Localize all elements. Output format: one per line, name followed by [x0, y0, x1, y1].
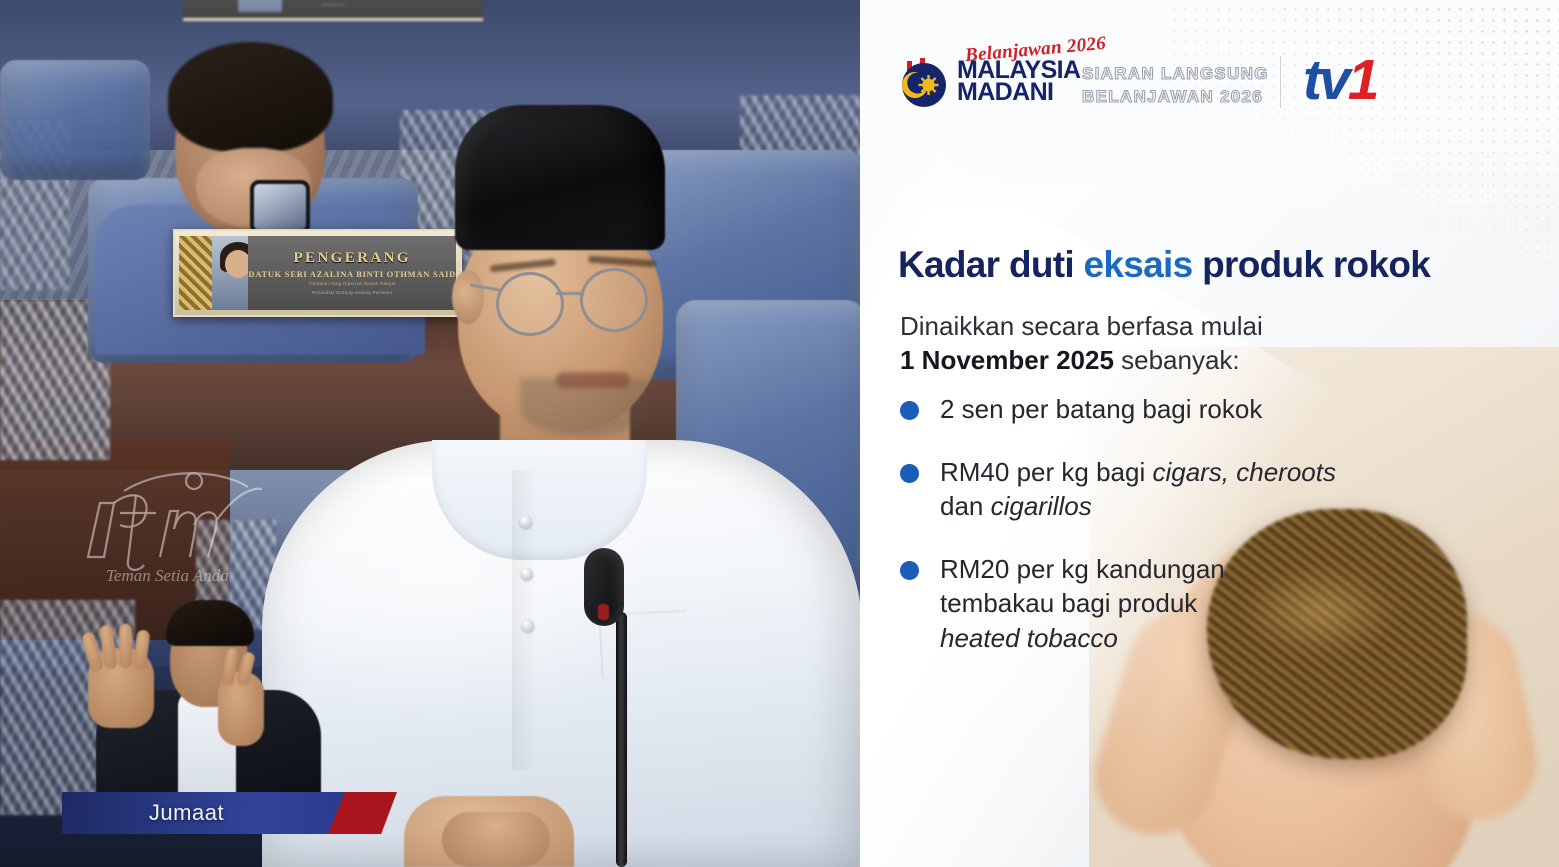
seated-mp-hair — [168, 42, 333, 152]
live-broadcast-label: SIARAN LANGSUNG BELANJAWAN 2026 — [1082, 64, 1269, 107]
panel-headline: Kadar duti eksais produk rokok — [898, 244, 1430, 286]
speaker-eyeglass-left — [496, 272, 564, 336]
chamber-seat-far-left — [0, 60, 150, 180]
bullet-text-3: RM20 per kg kandungantembakau bagi produ… — [940, 552, 1225, 656]
tv1-logo-tv: tv — [1303, 48, 1348, 112]
subtitle-line-2-tail: sebanyak: — [1114, 345, 1240, 375]
list-item: RM40 per kg bagi cigars, cherootsdan cig… — [900, 455, 1420, 524]
speaker-button-2 — [521, 568, 533, 580]
list-item: RM20 per kg kandungantembakau bagi produ… — [900, 552, 1420, 656]
list-item: 2 sen per batang bagi rokok — [900, 392, 1420, 427]
speaker-button-3 — [522, 620, 534, 632]
panel-subtitle: Dinaikkan secara berfasa mulai 1 Novembe… — [900, 309, 1263, 378]
bullet-dot-icon — [900, 401, 919, 420]
svg-text:Teman Setia Anda: Teman Setia Anda — [106, 566, 229, 585]
nameplate-member-name: DATUK SERI AZALINA BINTI OTHMAN SAID — [248, 269, 456, 279]
nameplate-top-photo — [238, 0, 282, 12]
nameplate-songket-motif — [179, 236, 212, 310]
nameplate-pengerang: PENGERANG DATUK SERI AZALINA BINTI OTHMA… — [173, 229, 462, 317]
subtitle-effective-date: 1 November 2025 — [900, 345, 1114, 375]
headline-highlight: eksais — [1084, 244, 1193, 285]
lower-third-day-banner: Jumaat — [62, 792, 345, 834]
speaker-eyeglass-right — [580, 268, 648, 332]
bullet-text-1: 2 sen per batang bagi rokok — [940, 392, 1262, 427]
subtitle-line-1: Dinaikkan secara berfasa mulai — [900, 309, 1263, 343]
speaker-songkok-hat — [455, 105, 665, 250]
microphone-stem — [616, 612, 627, 867]
nameplate-constituency: PENGERANG — [293, 250, 410, 267]
speaker-ear — [452, 270, 484, 324]
nameplate-role-2: Penasihat Undang-undang Parlimen — [312, 290, 392, 297]
live-label-line-1: SIARAN LANGSUNG — [1082, 64, 1269, 84]
header-divider — [1280, 56, 1281, 108]
broadcast-screenshot: BENTONG DATUK SERI WONG TACK SENG Ahli P… — [0, 0, 1559, 867]
sign-interpreter-finger-3 — [119, 624, 132, 668]
rtm-watermark: Teman Setia Anda — [70, 465, 285, 585]
speaker-clasped-fingers — [442, 812, 550, 867]
nameplate-role-1: Timbalan Yang Dipertua Dewan Rakyat — [309, 281, 396, 288]
tv1-logo-one: 1 — [1348, 48, 1377, 112]
speaker-eyeglass-bridge — [556, 292, 584, 295]
headline-part-2: produk rokok — [1193, 244, 1431, 285]
excise-duty-bullet-list: 2 sen per batang bagi rokok RM40 per kg … — [900, 392, 1420, 655]
speaker-mouth — [556, 372, 630, 388]
speaker-shirt-placket — [512, 470, 554, 770]
live-label-line-2: BELANJAWAN 2026 — [1082, 87, 1269, 107]
madani-emblem-icon — [898, 55, 950, 107]
microphone-indicator-light — [598, 604, 609, 620]
bullet-text-2: RM40 per kg bagi cigars, cherootsdan cig… — [940, 455, 1336, 524]
headline-part-1: Kadar duti — [898, 244, 1084, 285]
bullet-dot-icon — [900, 561, 919, 580]
budget-info-panel: Belanjawan 2026 MALAYSIA MADANI SIARAN L… — [860, 0, 1559, 867]
speaker-button-1 — [520, 516, 532, 528]
tv1-channel-logo: tv1 — [1303, 52, 1376, 109]
lower-third-day-label: Jumaat — [62, 792, 345, 834]
nameplate-member-photo — [212, 236, 248, 310]
seated-mp-wristwatch — [250, 180, 310, 234]
nameplate-top: BENTONG DATUK SERI WONG TACK SENG Ahli P… — [183, 0, 483, 21]
madani-word-madani: MADANI — [957, 81, 1080, 103]
nameplate-top-role: Ahli Parlimen — [183, 2, 483, 7]
malaysia-madani-logo: Belanjawan 2026 MALAYSIA MADANI — [898, 55, 1080, 107]
bullet-dot-icon — [900, 464, 919, 483]
parliament-video-feed: BENTONG DATUK SERI WONG TACK SENG Ahli P… — [0, 0, 862, 867]
